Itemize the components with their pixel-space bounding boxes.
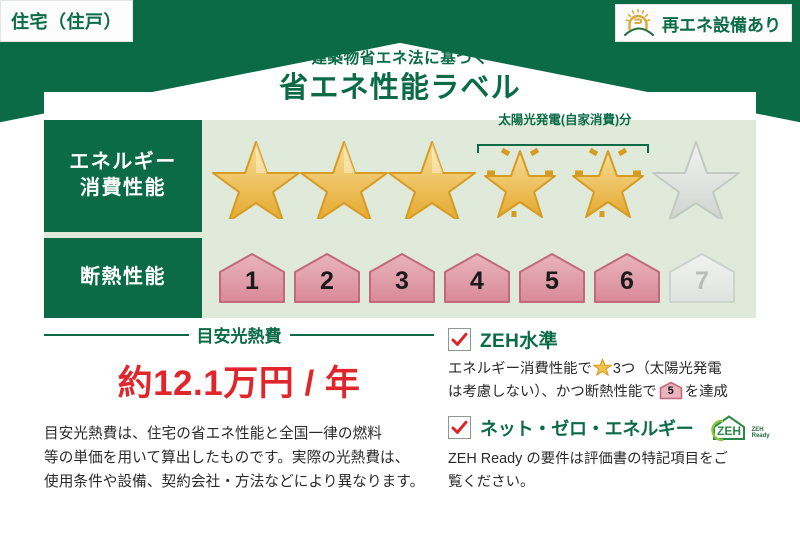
insulation-level-7: 7 xyxy=(666,250,738,306)
insulation-level-6: 6 xyxy=(591,250,663,306)
insulation-performance-row: 断熱性能 1 xyxy=(44,238,756,318)
insulation-performance-label: 断熱性能 xyxy=(44,238,202,318)
zeh-ready-line1: ZEH xyxy=(752,427,764,433)
star-filled xyxy=(300,133,388,219)
sun-renewable-icon xyxy=(622,8,656,38)
title-subtitle: 建築物省エネ法に基づく xyxy=(0,50,800,67)
energy-cost-value: 約12.1万円 / 年 xyxy=(44,355,434,406)
net-zero-energy-body: ZEH Ready の要件は評価書の特記項目をご 覧ください。 xyxy=(448,448,760,495)
zeh-ready-caption: ZEH Ready xyxy=(752,427,770,443)
net-zero-body-line-1: ZEH Ready の要件は評価書の特記項目をご xyxy=(448,448,760,471)
insulation-level-4: 4 xyxy=(441,250,513,306)
zeh-standard-item: ZEH水準 エネルギー消費性能で 3つ（太陽光発電 は考慮しない）、かつ断熱性能… xyxy=(448,326,760,405)
energy-label-line1: エネルギー xyxy=(69,150,177,176)
insulation-levels-area: 1 2 3 xyxy=(202,238,756,318)
insulation-level-number: 5 xyxy=(516,250,588,306)
insulation-label-text: 断熱性能 xyxy=(80,265,166,291)
page-title: 省エネ性能ラベル xyxy=(0,70,800,106)
zeh-body-text-1: エネルギー消費性能で xyxy=(448,361,592,377)
net-zero-energy-item: ネット・ゼロ・エネルギー ZEH ZEH Ready ZEH Ready の要件… xyxy=(448,413,760,495)
insulation-level-5: 5 xyxy=(516,250,588,306)
title-block: 建築物省エネ法に基づく 省エネ性能ラベル xyxy=(0,50,800,106)
zeh-body-text-3: は考慮しない）、かつ断熱性能で xyxy=(448,384,657,400)
star-filled xyxy=(388,133,476,219)
energy-stars-area: 太陽光発電(自家消費)分 xyxy=(202,120,756,232)
insulation-level-number: 3 xyxy=(366,250,438,306)
net-zero-energy-checkbox[interactable] xyxy=(448,416,471,439)
ratings-panel: エネルギー 消費性能 太陽光発電(自家消費)分 xyxy=(44,120,756,318)
energy-label-line2: 消費性能 xyxy=(80,176,166,202)
zeh-body-text-4: を達成 xyxy=(685,384,728,400)
star-solar xyxy=(476,133,564,219)
insulation-level-number: 6 xyxy=(591,250,663,306)
star-solar xyxy=(564,133,652,219)
star-empty xyxy=(652,133,740,219)
svg-text:ZEH: ZEH xyxy=(717,424,741,438)
insulation-badge-icon: 5 xyxy=(659,381,683,400)
energy-cost-heading: 目安光熱費 xyxy=(44,322,434,347)
zeh-standard-header: ZEH水準 xyxy=(448,326,760,353)
net-zero-energy-title: ネット・ゼロ・エネルギー xyxy=(480,415,694,441)
renewable-equipment-badge: 再エネ設備あり xyxy=(615,4,792,42)
star-rating xyxy=(202,120,756,232)
heading-rule-right xyxy=(290,334,435,336)
insulation-level-2: 2 xyxy=(291,250,363,306)
zeh-ready-logo: ZEH ZEH Ready xyxy=(708,413,770,443)
insulation-level-scale: 1 2 3 xyxy=(202,238,756,318)
cost-note-line-3: 使用条件や設備、契約会社・方法などにより異なります。 xyxy=(44,470,434,494)
insulation-level-number: 2 xyxy=(291,250,363,306)
insulation-level-number: 7 xyxy=(666,250,738,306)
net-zero-energy-header: ネット・ゼロ・エネルギー ZEH ZEH Ready xyxy=(448,413,760,443)
energy-cost-section: 目安光熱費 約12.1万円 / 年 目安光熱費は、住宅の省エネ性能と全国一律の燃… xyxy=(44,322,434,495)
zeh-body-text-2: 3つ（太陽光発電 xyxy=(613,361,722,377)
insulation-badge-number: 5 xyxy=(659,381,683,400)
insulation-level-1: 1 xyxy=(216,250,288,306)
cost-note-line-1: 目安光熱費は、住宅の省エネ性能と全国一律の燃料 xyxy=(44,422,434,446)
net-zero-body-line-2: 覧ください。 xyxy=(448,471,760,494)
building-type-label: 住宅（住戸） xyxy=(11,8,122,34)
star-icon xyxy=(593,358,612,376)
insulation-level-number: 4 xyxy=(441,250,513,306)
renewable-badge-label: 再エネ設備あり xyxy=(662,11,781,36)
energy-performance-label: エネルギー 消費性能 xyxy=(44,120,202,232)
cost-note-line-2: 等の単価を用いて算出したものです。実際の光熱費は、 xyxy=(44,446,434,470)
heading-rule-left xyxy=(44,334,189,336)
energy-cost-heading-label: 目安光熱費 xyxy=(197,322,282,347)
insulation-level-number: 1 xyxy=(216,250,288,306)
star-filled xyxy=(212,133,300,219)
zeh-standard-body: エネルギー消費性能で 3つ（太陽光発電 は考慮しない）、かつ断熱性能で 5 を達… xyxy=(448,358,760,405)
zeh-standard-title: ZEH水準 xyxy=(480,326,558,353)
building-type-tag: 住宅（住戸） xyxy=(0,0,133,42)
energy-label-card: 住宅（住戸） 再エネ設備あり xyxy=(0,0,800,536)
energy-cost-note: 目安光熱費は、住宅の省エネ性能と全国一律の燃料 等の単価を用いて算出したものです… xyxy=(44,422,434,495)
energy-performance-row: エネルギー 消費性能 太陽光発電(自家消費)分 xyxy=(44,120,756,232)
insulation-level-3: 3 xyxy=(366,250,438,306)
zeh-house-icon: ZEH xyxy=(708,413,750,443)
zeh-ready-line2: Ready xyxy=(752,433,770,439)
zeh-standard-checkbox[interactable] xyxy=(448,328,471,351)
zeh-section: ZEH水準 エネルギー消費性能で 3つ（太陽光発電 は考慮しない）、かつ断熱性能… xyxy=(448,326,760,502)
